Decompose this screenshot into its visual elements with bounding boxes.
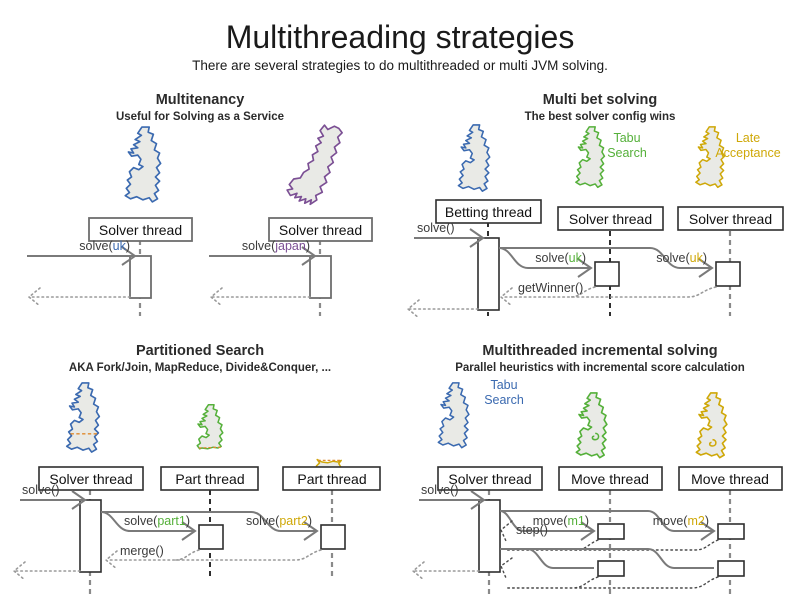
page-subtitle: There are several strategies to do multi… (192, 58, 608, 73)
panel-subtitle: Parallel heuristics with incremental sco… (455, 362, 745, 374)
panel-subtitle: AKA Fork/Join, MapReduce, Divide&Conquer… (69, 362, 331, 374)
lifeline-label-solver-thread-1: Solver thread (99, 222, 182, 238)
lifeline-label-solver-thread: Solver thread (448, 471, 531, 487)
uk-map (125, 127, 160, 202)
activation-bar-move-1b (598, 561, 624, 576)
message-label-solve-part2: solve(part2) (246, 514, 312, 528)
late-acceptance-label-line2: Acceptance (715, 146, 780, 160)
message-label-solve-part1: solve(part1) (124, 514, 190, 528)
uk-map-move2 (696, 393, 727, 458)
activation-bar-2 (310, 256, 331, 298)
activation-bar-move-2b (718, 561, 744, 576)
lifeline-label-solver-thread-2: Solver thread (279, 222, 362, 238)
panel-subtitle: Useful for Solving as a Service (116, 111, 284, 123)
message-label-solve-entry: solve() (22, 483, 60, 497)
page-title: Multithreading strategies (226, 19, 575, 55)
message-label-get-winner: getWinner() (518, 281, 583, 295)
uk-map-partitioned (67, 383, 100, 452)
panel-multi-bet-solving: Multi bet solving The best solver config… (408, 92, 783, 318)
japan-map (287, 125, 342, 204)
message-label-solve-uk-late: solve(uk) (656, 251, 707, 265)
late-acceptance-label-line1: Late (736, 131, 760, 145)
activation-bar-move-1a (598, 524, 624, 539)
panel-multithreaded-incremental-solving: Multithreaded incremental solving Parall… (413, 343, 782, 594)
message-label-solve-entry: solve() (421, 483, 459, 497)
return-arrowhead-step (501, 521, 512, 541)
uk-map-move1 (576, 393, 607, 458)
uk-map-tabu (576, 127, 605, 187)
panel-title: Multitenancy (156, 92, 245, 108)
lifeline-label-part-thread-1: Part thread (175, 471, 244, 487)
lifeline-label-betting-thread: Betting thread (445, 204, 532, 220)
message-line-move-round2-1 (500, 549, 594, 568)
diagram-page: Multithreading strategies There are seve… (0, 0, 800, 600)
message-label-solve-uk-tabu: solve(uk) (535, 251, 586, 265)
lifeline-label-solver-thread-1: Solver thread (569, 211, 652, 227)
activation-bar-part-2 (321, 525, 345, 549)
message-label-solve-entry: solve() (417, 221, 455, 235)
lifeline-label-move-thread-2: Move thread (691, 471, 769, 487)
uk-map (438, 383, 469, 448)
tabu-search-label-line2: Search (607, 146, 647, 160)
panel-multitenancy: Multitenancy Useful for Solving as a Ser… (27, 92, 372, 316)
message-label-move-m2: move(m2) (653, 514, 709, 528)
tabu-search-label-line1: Tabu (490, 378, 517, 392)
return-arrowhead-round2 (501, 558, 512, 578)
activation-bar-solver (479, 500, 500, 572)
activation-bar-betting (478, 238, 499, 310)
panel-subtitle: The best solver config wins (525, 111, 676, 123)
activation-bar-move-2a (718, 524, 744, 539)
panel-partitioned-search: Partitioned Search AKA Fork/Join, MapRed… (14, 343, 380, 594)
tabu-search-label-line1: Tabu (613, 131, 640, 145)
message-label-merge: merge() (120, 544, 164, 558)
activation-bar-1 (130, 256, 151, 298)
activation-bar-part-1 (199, 525, 223, 549)
uk-map (458, 125, 489, 191)
message-label-solve-japan: solve(japan) (242, 239, 310, 253)
return-line-merge-1 (175, 550, 199, 560)
lifeline-label-move-thread-1: Move thread (571, 471, 649, 487)
tabu-search-label-line2: Search (484, 393, 524, 407)
diagram-canvas: Multithreading strategies There are seve… (0, 0, 800, 600)
activation-bar-solver-1 (595, 262, 619, 286)
panel-title: Partitioned Search (136, 343, 264, 359)
lifeline-label-part-thread-2: Part thread (297, 471, 366, 487)
uk-map-part1 (197, 405, 223, 449)
lifeline-label-solver-thread: Solver thread (49, 471, 132, 487)
return-line-round2-2 (505, 577, 718, 588)
return-line-round2-1 (572, 577, 598, 588)
panel-title: Multi bet solving (543, 92, 657, 108)
activation-bar-solver (80, 500, 101, 572)
panel-title: Multithreaded incremental solving (482, 343, 717, 359)
message-label-solve-uk: solve(uk) (79, 239, 130, 253)
message-label-step: step() (516, 523, 548, 537)
lifeline-label-solver-thread-2: Solver thread (689, 211, 772, 227)
activation-bar-solver-2 (716, 262, 740, 286)
